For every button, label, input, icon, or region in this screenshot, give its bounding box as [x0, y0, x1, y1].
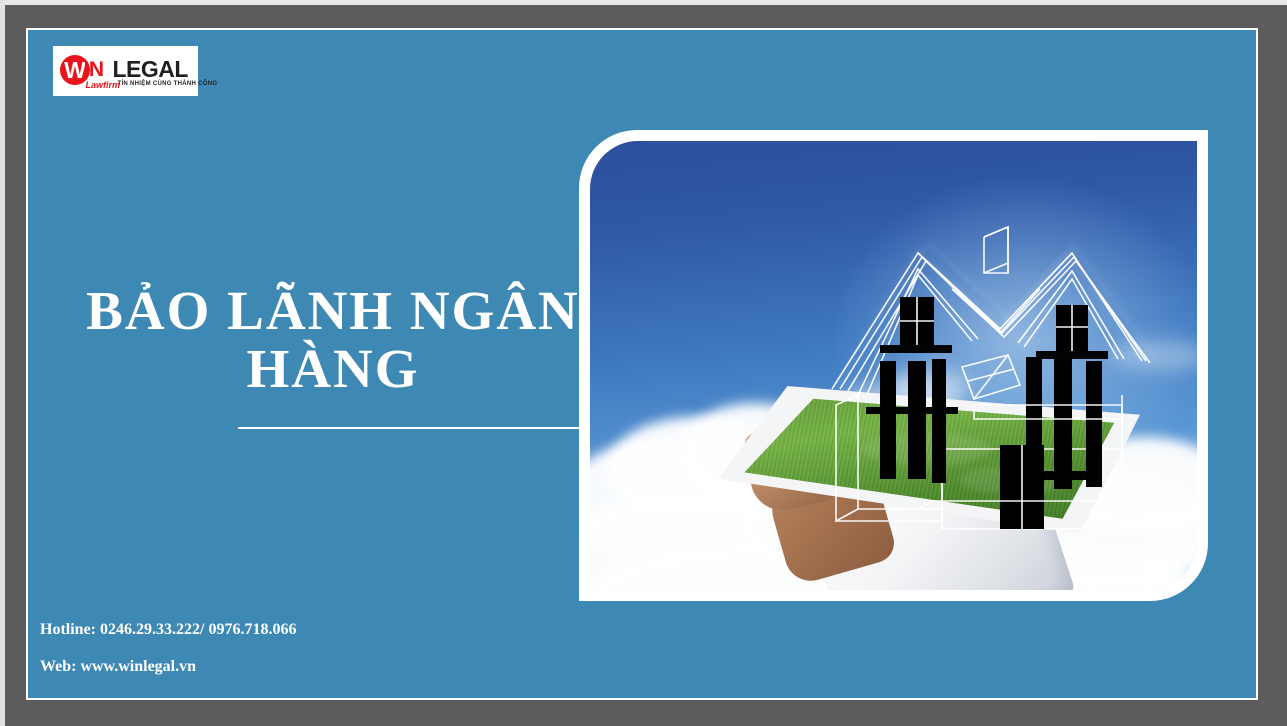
hero-photo: [590, 141, 1197, 590]
contact-footer: Hotline: 0246.29.33.222/ 0976.718.066 We…: [40, 621, 640, 676]
wireframe-house-icon: [822, 209, 1152, 529]
hotline-text: Hotline: 0246.29.33.222/ 0976.718.066: [40, 621, 640, 639]
title-line-1: BẢO LÃNH NGÂN: [68, 282, 598, 340]
photo-frame: [579, 130, 1208, 601]
winlegal-logo[interactable]: W IN LEGAL Lawfirm TÍN NHIỆM CÙNG THÀNH …: [53, 46, 198, 96]
logo-word-legal: LEGAL: [113, 56, 188, 83]
top-edge-strip: [0, 0, 1287, 5]
title-underline-rule: [238, 427, 608, 429]
slide-canvas: W IN LEGAL Lawfirm TÍN NHIỆM CÙNG THÀNH …: [0, 0, 1287, 726]
logo-inner: W IN LEGAL Lawfirm TÍN NHIỆM CÙNG THÀNH …: [58, 51, 194, 91]
presentation-slide: W IN LEGAL Lawfirm TÍN NHIỆM CÙNG THÀNH …: [26, 28, 1258, 700]
page-title: BẢO LÃNH NGÂN HÀNG: [68, 282, 598, 398]
logo-word-in: IN: [84, 58, 104, 82]
logo-tagline: TÍN NHIỆM CÙNG THÀNH CÔNG: [118, 81, 218, 87]
title-line-2: HÀNG: [68, 340, 598, 398]
website-text[interactable]: Web: www.winlegal.vn: [40, 658, 640, 676]
logo-sub-label: Lawfirm: [86, 80, 121, 90]
left-edge-strip: [0, 0, 5, 726]
